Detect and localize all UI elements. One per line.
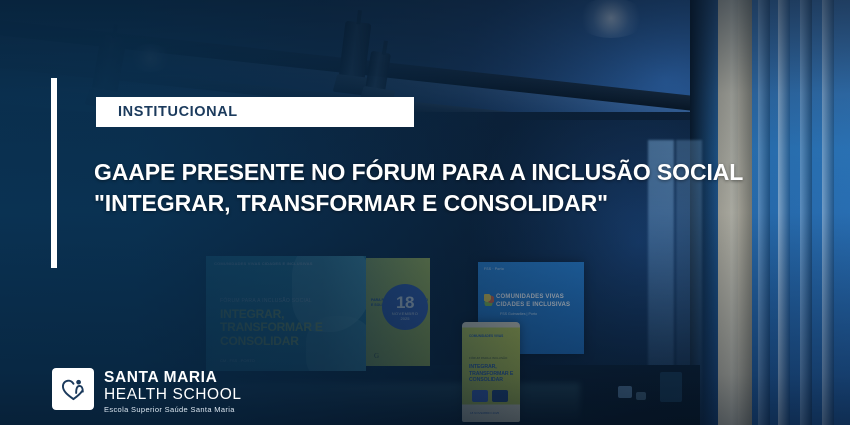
brand-name-line1: SANTA MARIA (104, 369, 242, 386)
page-title: GAAPE PRESENTE NO FÓRUM PARA A INCLUSÃO … (94, 157, 754, 219)
heart-with-person-icon (52, 368, 94, 410)
category-badge[interactable]: INSTITUCIONAL (96, 97, 414, 127)
brand-tagline: Escola Superior Saúde Santa Maria (104, 403, 242, 415)
accent-bar (51, 78, 57, 268)
brand-name-line2: HEALTH SCHOOL (104, 386, 242, 403)
article-hero-banner: COMUNIDADES VIVAS CIDADES E INCLUSIVAS F… (0, 0, 850, 425)
brand-logo-text: SANTA MARIA HEALTH SCHOOL Escola Superio… (104, 368, 242, 415)
category-badge-label: INSTITUCIONAL (118, 104, 238, 120)
brand-logo[interactable]: SANTA MARIA HEALTH SCHOOL Escola Superio… (52, 368, 242, 415)
